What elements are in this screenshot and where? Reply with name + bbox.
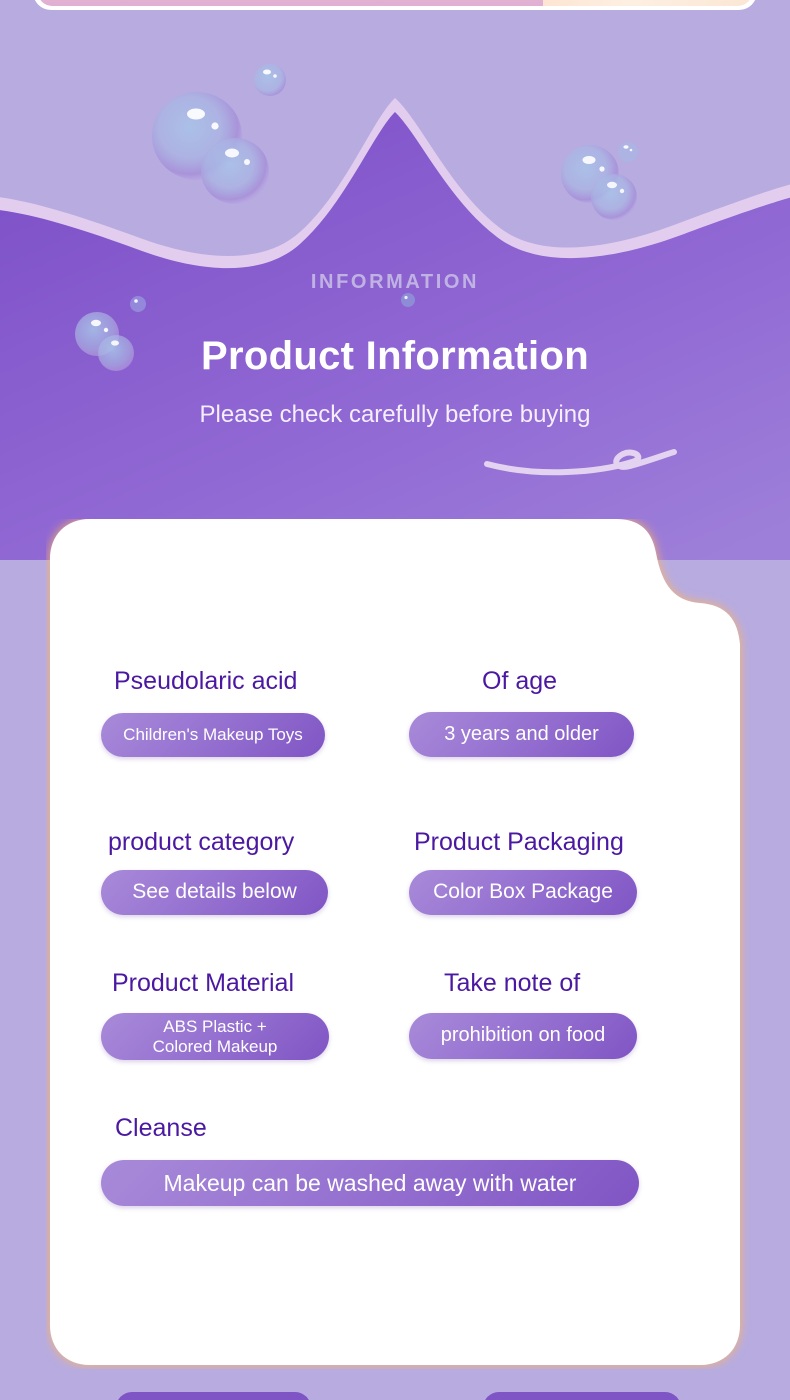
info-label-pseudolaric-acid: Pseudolaric acid bbox=[114, 667, 297, 696]
info-value-pseudolaric-acid[interactable]: Children's Makeup Toys bbox=[101, 713, 325, 757]
partial-card-inner bbox=[38, 0, 752, 6]
bubble-tiny-left bbox=[129, 295, 147, 313]
bubble-cluster-lower-left bbox=[74, 310, 136, 372]
info-value-of-age[interactable]: 3 years and older bbox=[409, 712, 634, 757]
product-information-page: INFORMATION Product Information Please c… bbox=[0, 0, 790, 1400]
info-label-product-packaging: Product Packaging bbox=[414, 828, 624, 857]
bubble-small-top bbox=[253, 63, 287, 97]
info-label-product-material: Product Material bbox=[112, 969, 294, 998]
bubble-cluster-left bbox=[152, 88, 272, 206]
info-label-product-category: product category bbox=[108, 828, 294, 857]
info-label-cleanse: Cleanse bbox=[115, 1114, 207, 1143]
info-value-take-note-of[interactable]: prohibition on food bbox=[409, 1013, 637, 1059]
bubble-tiny-star bbox=[400, 292, 416, 308]
partial-card-segment-left bbox=[38, 0, 543, 6]
info-card-content: Pseudolaric acid Children's Makeup Toys … bbox=[46, 519, 752, 1369]
hero-banner bbox=[0, 0, 790, 560]
partial-card-above bbox=[33, 0, 757, 10]
partial-card-segment-right bbox=[543, 0, 752, 6]
info-value-cleanse[interactable]: Makeup can be washed away with water bbox=[101, 1160, 639, 1206]
info-label-of-age: Of age bbox=[482, 667, 557, 696]
info-value-product-packaging[interactable]: Color Box Package bbox=[409, 870, 637, 915]
next-section-pill-right[interactable] bbox=[483, 1392, 681, 1400]
info-label-take-note-of: Take note of bbox=[444, 969, 580, 998]
bubble-small-right bbox=[617, 141, 639, 163]
info-value-product-category[interactable]: See details below bbox=[101, 870, 328, 915]
info-value-product-material[interactable]: ABS Plastic + Colored Makeup bbox=[101, 1013, 329, 1060]
next-section-pill-left[interactable] bbox=[116, 1392, 311, 1400]
